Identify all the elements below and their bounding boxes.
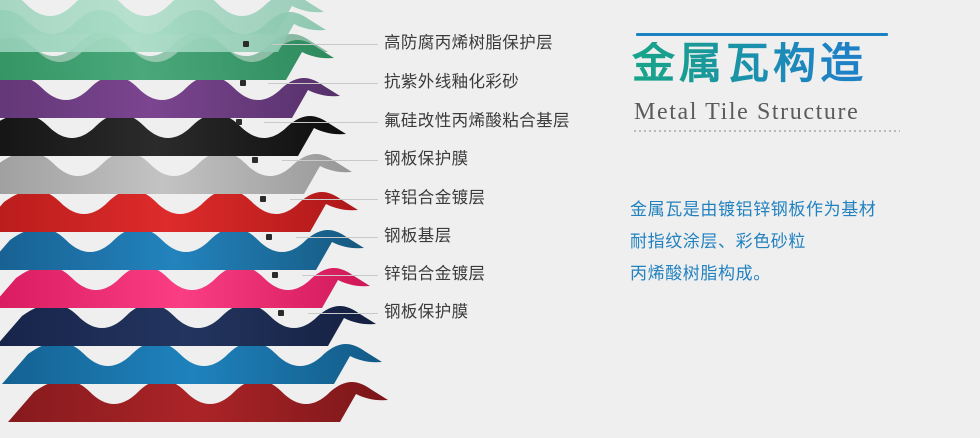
callout-marker-2 bbox=[240, 80, 246, 86]
callout-leader-4 bbox=[282, 160, 378, 161]
callout-label-4: 钢板保护膜 bbox=[384, 151, 469, 168]
callout-marker-4 bbox=[252, 157, 258, 163]
heading-top-rule bbox=[636, 33, 888, 36]
info-panel: 金属瓦构造 Metal Tile Structure 金属瓦是由镀铝锌钢板作为基… bbox=[614, 0, 980, 438]
description-text: 金属瓦是由镀铝锌钢板作为基材 耐指纹涂层、彩色砂粒 丙烯酸树脂构成。 bbox=[630, 194, 970, 290]
callout-leader-6 bbox=[296, 237, 378, 238]
callout-leader-7 bbox=[302, 275, 378, 276]
tile-layer-11 bbox=[8, 380, 388, 422]
callout-label-3: 氟硅改性丙烯酸粘合基层 bbox=[384, 113, 570, 130]
page-root: 高防腐丙烯树脂保护层 抗紫外线釉化彩砂 氟硅改性丙烯酸粘合基层 钢板保护膜 锌铝… bbox=[0, 0, 980, 438]
callout-label-8: 钢板保护膜 bbox=[384, 304, 469, 321]
callout-label-7: 锌铝合金镀层 bbox=[384, 266, 485, 283]
callout-label-5: 锌铝合金镀层 bbox=[384, 190, 485, 207]
callout-leader-1 bbox=[272, 44, 378, 45]
tile-layer-9 bbox=[0, 304, 376, 346]
callout-marker-5 bbox=[260, 196, 266, 202]
tile-layer-8 bbox=[0, 266, 370, 308]
callout-leader-8 bbox=[308, 313, 378, 314]
callout-label-6: 钢板基层 bbox=[384, 228, 452, 245]
tile-layer-1 bbox=[0, 0, 328, 74]
callout-marker-6 bbox=[266, 234, 272, 240]
page-title: 金属瓦构造 bbox=[632, 42, 867, 87]
description-line-3: 丙烯酸树脂构成。 bbox=[630, 258, 970, 290]
callout-leader-5 bbox=[290, 199, 378, 200]
callout-marker-1 bbox=[243, 41, 249, 47]
callout-leader-2 bbox=[268, 83, 378, 84]
tile-layer-4 bbox=[0, 114, 346, 156]
callout-label-1: 高防腐丙烯树脂保护层 bbox=[384, 35, 553, 52]
callout-marker-7 bbox=[272, 272, 278, 278]
heading-bottom-rule bbox=[634, 130, 900, 132]
callout-leader-3 bbox=[264, 122, 378, 123]
tile-layer-7 bbox=[0, 228, 364, 270]
callout-label-2: 抗紫外线釉化彩砂 bbox=[384, 74, 519, 91]
page-subtitle: Metal Tile Structure bbox=[634, 99, 859, 126]
callout-marker-8 bbox=[278, 310, 284, 316]
callout-marker-3 bbox=[236, 119, 242, 125]
tile-layer-5 bbox=[0, 152, 352, 194]
description-line-2: 耐指纹涂层、彩色砂粒 bbox=[630, 226, 970, 258]
description-line-1: 金属瓦是由镀铝锌钢板作为基材 bbox=[630, 194, 970, 226]
tile-layer-10 bbox=[2, 342, 382, 384]
metal-tile-illustration bbox=[0, 0, 400, 438]
tile-layer-6 bbox=[0, 190, 358, 232]
